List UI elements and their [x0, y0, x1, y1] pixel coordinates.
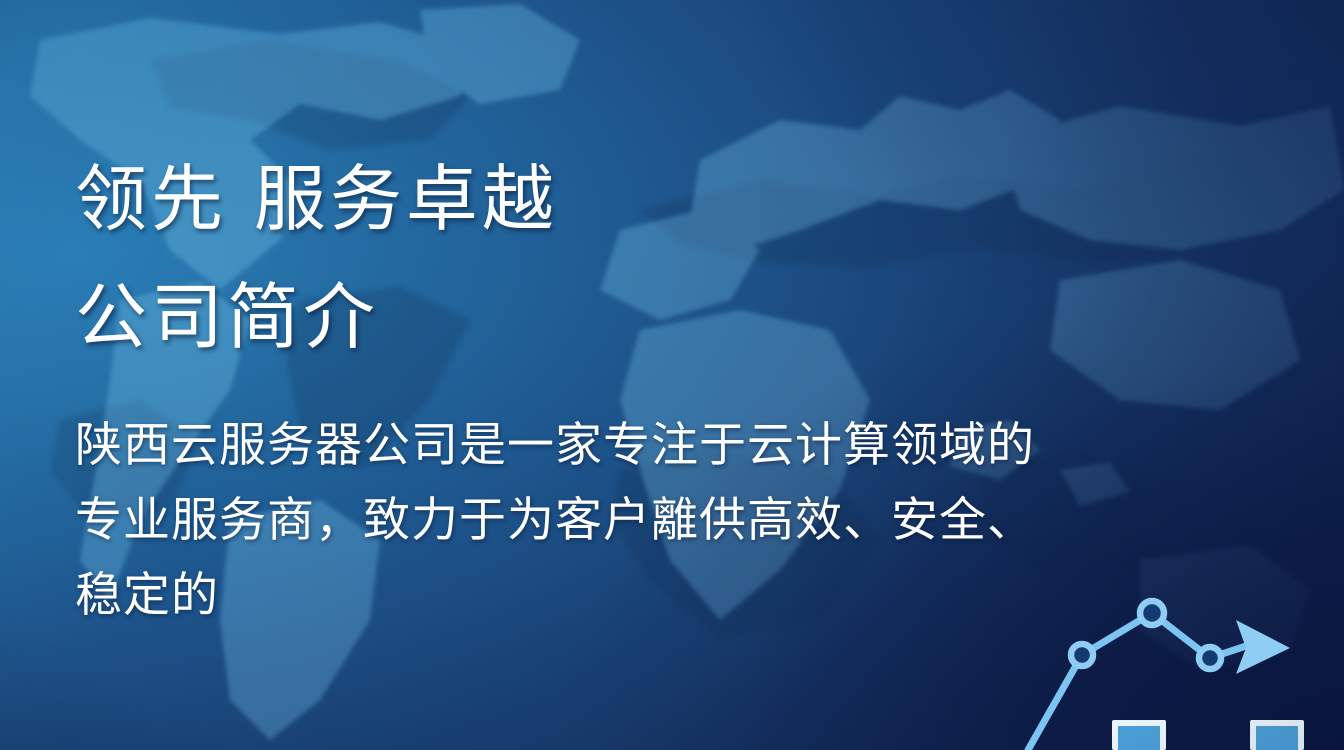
- slide-canvas: 领先 服务卓越 公司简介 陕西云服务器公司是一家专注于云计算领域的 专业服务商，…: [0, 0, 1344, 750]
- body-paragraph: 陕西云服务器公司是一家专注于云计算领域的 专业服务商，致力于为客户離供高效、安全…: [75, 408, 1290, 633]
- headline-line-1: 领先 服务卓越: [75, 140, 1275, 258]
- slide-content: 领先 服务卓越 公司简介 陕西云服务器公司是一家专注于云计算领域的 专业服务商，…: [75, 0, 1304, 750]
- headline-line-2: 公司简介: [75, 258, 1275, 376]
- body-line-3: 稳定的: [75, 558, 1290, 633]
- body-line-2: 专业服务商，致力于为客户離供高效、安全、: [75, 483, 1290, 558]
- body-line-1: 陕西云服务器公司是一家专注于云计算领域的: [75, 408, 1290, 483]
- page-title: 领先 服务卓越 公司简介: [75, 140, 1275, 376]
